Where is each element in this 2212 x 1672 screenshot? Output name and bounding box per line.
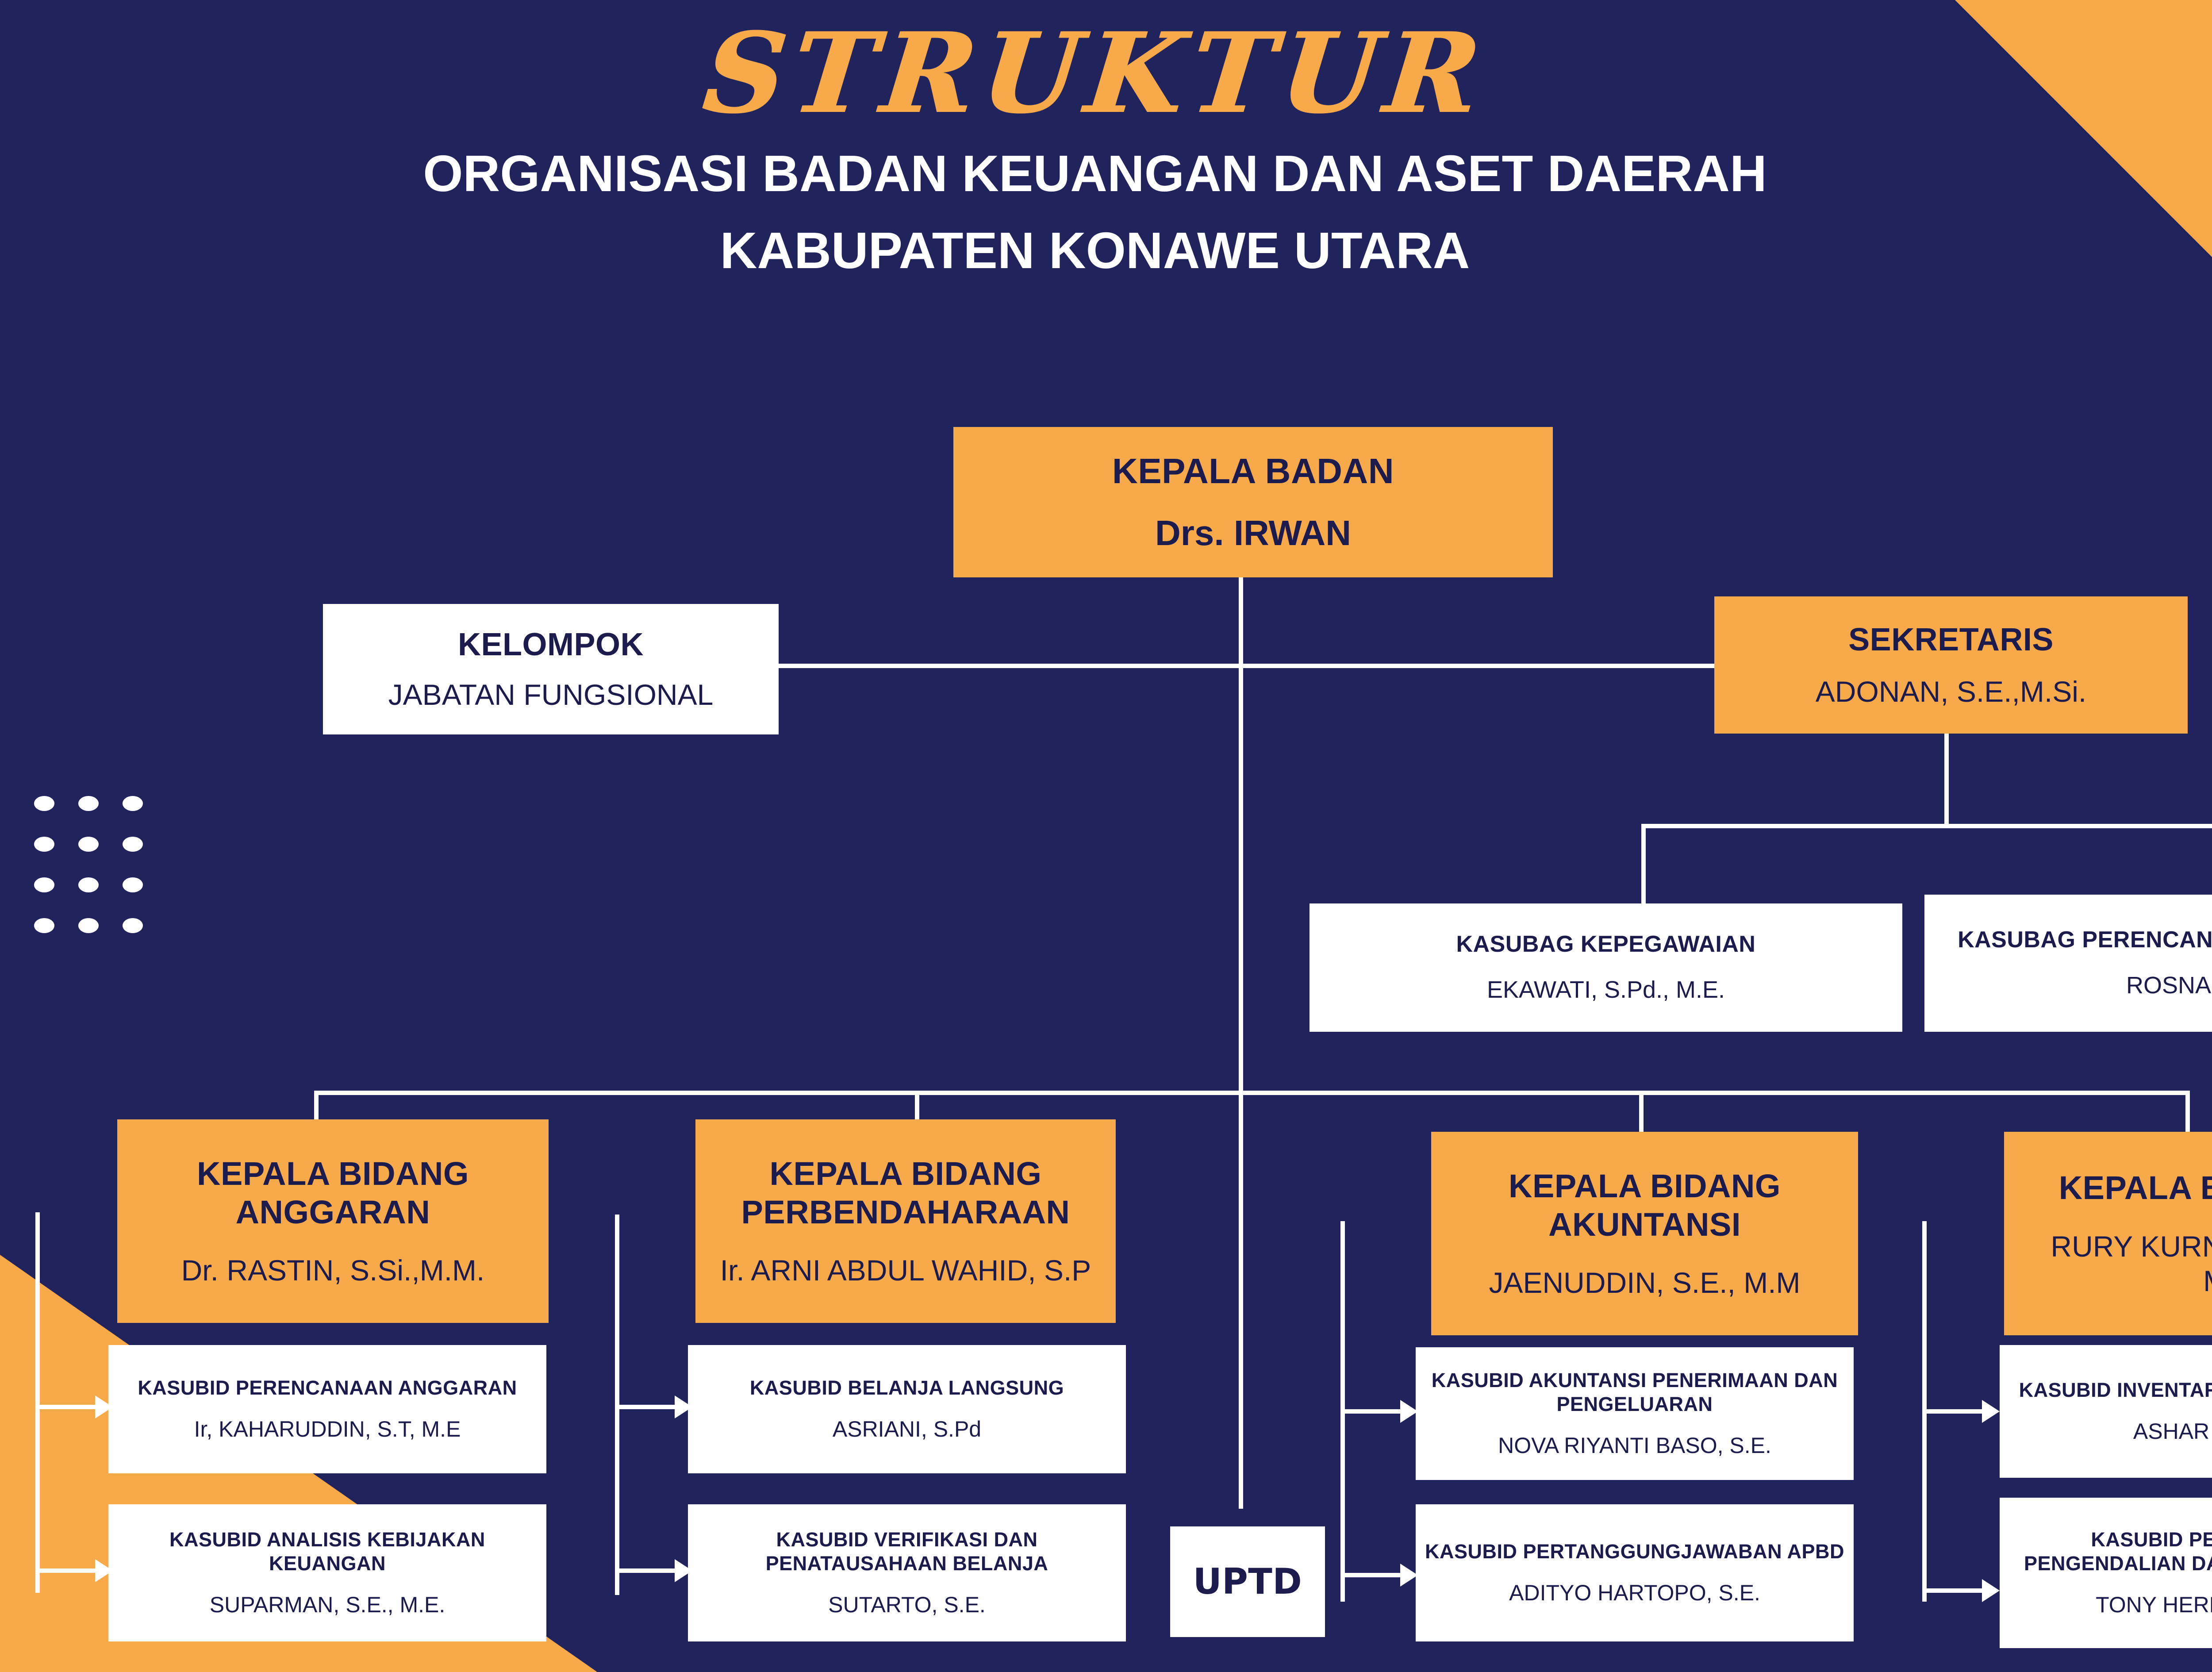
- connector-trunk-vertical: [1239, 575, 1243, 1093]
- connector-col3-sub1-arrowhead: [1400, 1400, 1418, 1423]
- node-name: TONY HERBIANSYAH, S.KM: [2096, 1592, 2212, 1618]
- node-name: RURY KURNIAWAN, S.Sos.., M.A.P: [2012, 1230, 2212, 1299]
- node-title: KASUBID BELANJA LANGSUNG: [750, 1376, 1064, 1399]
- node-kelompok-jabatan-fungsional[interactable]: KELOMPOK JABATAN FUNGSIONAL: [323, 604, 779, 734]
- node-title: KEPALA BIDANG ASET: [2059, 1168, 2212, 1207]
- node-kasubag-perencanaan-dan-keuangan[interactable]: KASUBAG PERENCANAAN DAN KEUANGAN ROSNANI…: [1924, 895, 2212, 1032]
- node-name: ADONAN, S.E.,M.Si.: [1816, 675, 2086, 709]
- node-name: Dr. RASTIN, S.Si.,M.M.: [181, 1253, 485, 1288]
- node-kasubid-perencanaan-anggaran[interactable]: KASUBID PERENCANAAN ANGGARAN Ir, KAHARUD…: [108, 1345, 546, 1473]
- dot-grid-left-icon: [22, 783, 155, 946]
- node-kasubid-akuntansi-penerimaan-pengeluaran[interactable]: KASUBID AKUNTANSI PENERIMAAN DAN PENGELU…: [1416, 1347, 1854, 1480]
- node-kasubid-analisis-kebijakan-keuangan[interactable]: KASUBID ANALISIS KEBIJAKAN KEUANGAN SUPA…: [108, 1504, 546, 1641]
- connector-sekretaris-horizontal: [1239, 664, 1717, 668]
- node-kasubag-kepegawaian[interactable]: KASUBAG KEPEGAWAIAN EKAWATI, S.Pd., M.E.: [1310, 903, 1902, 1032]
- node-title: KEPALA BADAN: [1112, 450, 1394, 492]
- node-kepala-badan[interactable]: KEPALA BADAN Drs. IRWAN: [953, 427, 1553, 577]
- connector-col4-sub2-arrowhead: [1982, 1579, 2000, 1602]
- node-kasubid-pertanggungjawaban-apbd[interactable]: KASUBID PERTANGGUNGJAWABAN APBD ADITYO H…: [1416, 1504, 1854, 1641]
- node-kepala-bidang-perbendaharaan[interactable]: KEPALA BIDANG PERBENDAHARAAN Ir. ARNI AB…: [695, 1119, 1116, 1323]
- node-title: KASUBAG KEPEGAWAIAN: [1456, 931, 1756, 958]
- node-kepala-bidang-aset[interactable]: KEPALA BIDANG ASET RURY KURNIAWAN, S.Sos…: [2004, 1132, 2212, 1335]
- org-chart-canvas: STRUKTUR ORGANISASI BADAN KEUANGAN DAN A…: [0, 0, 2212, 1672]
- node-title: KASUBID PEMNAFAATAN DAN PENGENDALIAN DAN…: [2008, 1528, 2212, 1575]
- connector-sekretaris-vertical: [1944, 730, 1949, 827]
- page-title-script: STRUKTUR: [0, 18, 2196, 128]
- node-name: JABATAN FUNGSIONAL: [388, 678, 714, 712]
- node-title: KASUBID PERTANGGUNGJAWABAN APBD: [1425, 1540, 1844, 1563]
- node-name: ADITYO HARTOPO, S.E.: [1509, 1580, 1760, 1606]
- node-title: KASUBID PERENCANAAN ANGGARAN: [138, 1376, 517, 1399]
- connector-kasubag-kepegawaian-drop: [1641, 824, 1646, 903]
- node-name: ROSNANI, S.E.: [2126, 972, 2212, 1000]
- node-title: KEPALA BIDANG ANGGARAN: [125, 1154, 541, 1232]
- node-name: EKAWATI, S.Pd., M.E.: [1487, 976, 1725, 1004]
- node-name: Ir, KAHARUDDIN, S.T, M.E: [194, 1416, 461, 1442]
- connector-bidang-bus: [314, 1091, 2190, 1095]
- connector-kelompok-horizontal: [779, 664, 1241, 668]
- connector-bidang-akuntansi-drop: [1639, 1091, 1644, 1133]
- page-subtitle-line-2: KABUPATEN KONAWE UTARA: [0, 213, 2190, 288]
- node-name: Ir. ARNI ABDUL WAHID, S.P: [720, 1253, 1091, 1288]
- node-title: KASUBID AKUNTANSI PENERIMAAN DAN PENGELU…: [1424, 1368, 1846, 1415]
- node-title: SEKRETARIS: [1848, 621, 2054, 659]
- node-sekretaris[interactable]: SEKRETARIS ADONAN, S.E.,M.Si.: [1714, 596, 2188, 734]
- node-kasubid-inventarisasi-mutasi-aset[interactable]: KASUBID INVENTARISASI DAN MUTASI ASET AS…: [2000, 1345, 2212, 1478]
- connector-bidang-perbendaharaan-drop: [915, 1091, 919, 1119]
- node-name: SUPARMAN, S.E., M.E.: [210, 1592, 445, 1618]
- node-kasubid-belanja-langsung[interactable]: KASUBID BELANJA LANGSUNG ASRIANI, S.Pd: [688, 1345, 1126, 1473]
- connector-col4-sub1-arrowhead: [1982, 1400, 2000, 1423]
- node-kasubid-pemanfaatan-pengendalian-penghapusan-aset[interactable]: KASUBID PEMNAFAATAN DAN PENGENDALIAN DAN…: [2000, 1498, 2212, 1648]
- node-title: KASUBAG PERENCANAAN DAN KEUANGAN: [1958, 926, 2212, 953]
- node-kasubid-verifikasi-penatausahaan-belanja[interactable]: KASUBID VERIFIKASI DAN PENATAUSAHAAN BEL…: [688, 1504, 1126, 1641]
- node-title: KEPALA BIDANG PERBENDAHARAAN: [703, 1154, 1108, 1232]
- node-uptd[interactable]: UPTD: [1170, 1526, 1325, 1637]
- node-name: NOVA RIYANTI BASO, S.E.: [1498, 1433, 1771, 1459]
- node-name: Drs. IRWAN: [1155, 512, 1351, 554]
- node-kepala-bidang-akuntansi[interactable]: KEPALA BIDANG AKUNTANSI JAENUDDIN, S.E.,…: [1431, 1132, 1858, 1335]
- node-title: KASUBID ANALISIS KEBIJAKAN KEUANGAN: [116, 1528, 538, 1575]
- node-name: ASRIANI, S.Pd: [833, 1416, 981, 1442]
- node-name: ASHAR HARUN, S.E.: [2133, 1418, 2212, 1445]
- node-kepala-bidang-anggaran[interactable]: KEPALA BIDANG ANGGARAN Dr. RASTIN, S.Si.…: [117, 1119, 549, 1323]
- node-title: KEPALA BIDANG AKUNTANSI: [1439, 1167, 1850, 1244]
- node-title: UPTD: [1193, 1561, 1302, 1603]
- connector-col3-sub2-arrowhead: [1400, 1564, 1418, 1587]
- node-name: SUTARTO, S.E.: [828, 1592, 986, 1618]
- connector-uptd-drop: [1239, 1093, 1243, 1509]
- node-title: KELOMPOK: [458, 626, 644, 664]
- node-name: JAENUDDIN, S.E., M.M: [1489, 1266, 1800, 1300]
- connector-col1-vertical: [35, 1212, 40, 1593]
- page-subtitle-line-1: ORGANISASI BADAN KEUANGAN DAN ASET DAERA…: [0, 136, 2190, 211]
- node-title: KASUBID VERIFIKASI DAN PENATAUSAHAAN BEL…: [696, 1528, 1118, 1575]
- node-title: KASUBID INVENTARISASI DAN MUTASI ASET: [2019, 1378, 2212, 1402]
- connector-bidang-aset-drop: [2185, 1091, 2190, 1133]
- connector-bidang-anggaran-drop: [314, 1091, 319, 1119]
- connector-sekretaris-bus: [1641, 824, 2212, 828]
- page-header: STRUKTUR ORGANISASI BADAN KEUANGAN DAN A…: [0, 18, 2190, 288]
